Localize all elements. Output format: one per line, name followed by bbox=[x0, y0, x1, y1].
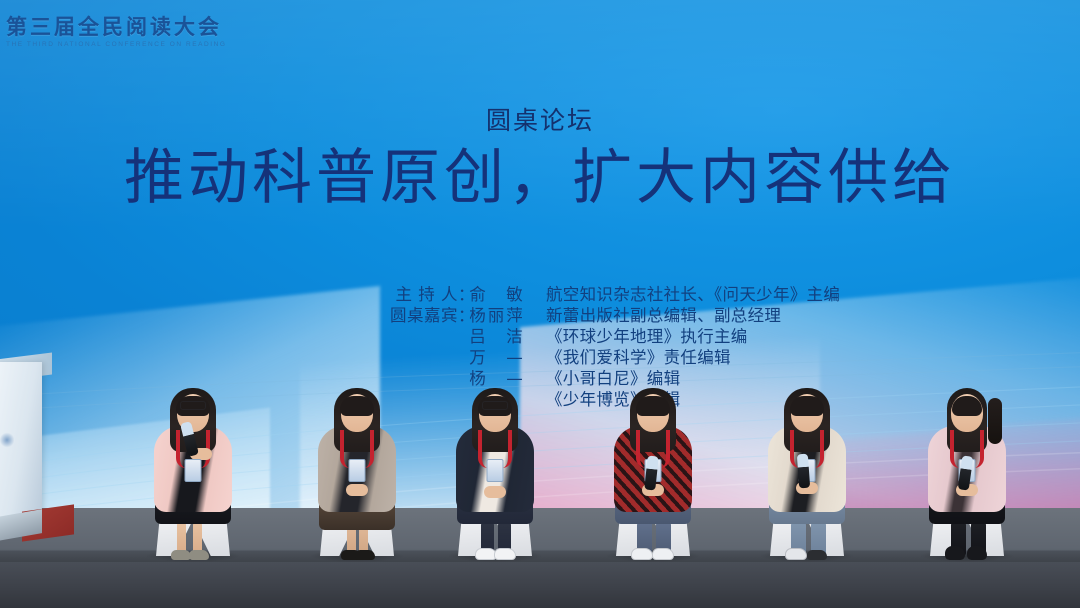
credit-row: 圆桌嘉宾 ： 杨丽萍 新蕾出版社副总编辑、副总经理 bbox=[372, 306, 840, 325]
stage-floor-edge bbox=[0, 562, 1080, 608]
shoe bbox=[494, 548, 516, 560]
panelist-hands bbox=[346, 484, 368, 496]
panelist-4 bbox=[588, 326, 718, 556]
conference-stage-photo: 第三届全民阅读大会 THE THIRD NATIONAL CONFERENCE … bbox=[0, 0, 1080, 608]
glasses-icon bbox=[482, 401, 508, 410]
panelist-1 bbox=[128, 326, 258, 556]
ponytail bbox=[988, 398, 1002, 444]
shoe bbox=[785, 548, 807, 560]
credit-name: 杨丽萍 bbox=[468, 306, 526, 325]
credit-title: 航空知识杂志社社长、《问天少年》主编 bbox=[546, 285, 840, 304]
name-badge bbox=[185, 459, 202, 482]
shoe bbox=[807, 550, 827, 560]
forum-label: 圆桌论坛 bbox=[0, 108, 1080, 133]
hair-fringe bbox=[952, 396, 982, 416]
podium-emblem bbox=[0, 432, 14, 448]
shoe bbox=[631, 548, 653, 560]
name-badge bbox=[349, 459, 366, 482]
name-badge bbox=[487, 459, 504, 482]
boot bbox=[945, 546, 965, 560]
conference-logo-chinese: 第三届全民阅读大会 bbox=[6, 16, 216, 39]
panelist-2 bbox=[292, 326, 422, 556]
speaker-podium bbox=[0, 348, 52, 538]
credit-colon: ： bbox=[458, 306, 468, 325]
panelist-hands bbox=[484, 486, 506, 498]
forum-title-block: 圆桌论坛 推动科普原创，扩大内容供给 bbox=[0, 108, 1080, 210]
shoe bbox=[189, 550, 209, 560]
forum-heading: 推动科普原创，扩大内容供给 bbox=[0, 147, 1080, 210]
credit-name: 俞 敏 bbox=[468, 285, 526, 304]
shoe bbox=[355, 550, 375, 560]
boot bbox=[967, 546, 987, 560]
panelist-6 bbox=[902, 326, 1032, 556]
conference-logo-english: THE THIRD NATIONAL CONFERENCE ON READING bbox=[6, 41, 216, 48]
microphone bbox=[797, 454, 810, 489]
credit-role: 主 持 人 bbox=[372, 285, 458, 304]
conference-logo: 第三届全民阅读大会 THE THIRD NATIONAL CONFERENCE … bbox=[6, 16, 216, 48]
panelist-5 bbox=[742, 326, 872, 556]
shoe bbox=[652, 548, 674, 560]
credit-title: 新蕾出版社副总编辑、副总经理 bbox=[546, 306, 781, 325]
credit-row: 主 持 人 ： 俞 敏 航空知识杂志社社长、《问天少年》主编 bbox=[372, 285, 840, 304]
hair-fringe bbox=[790, 396, 824, 416]
credit-colon: ： bbox=[458, 285, 468, 304]
panelist-3 bbox=[430, 326, 560, 556]
hair-fringe bbox=[636, 396, 670, 416]
credit-role: 圆桌嘉宾 bbox=[372, 306, 458, 325]
hair-fringe bbox=[340, 396, 374, 416]
glasses-icon bbox=[180, 401, 206, 410]
shoe bbox=[171, 550, 191, 560]
